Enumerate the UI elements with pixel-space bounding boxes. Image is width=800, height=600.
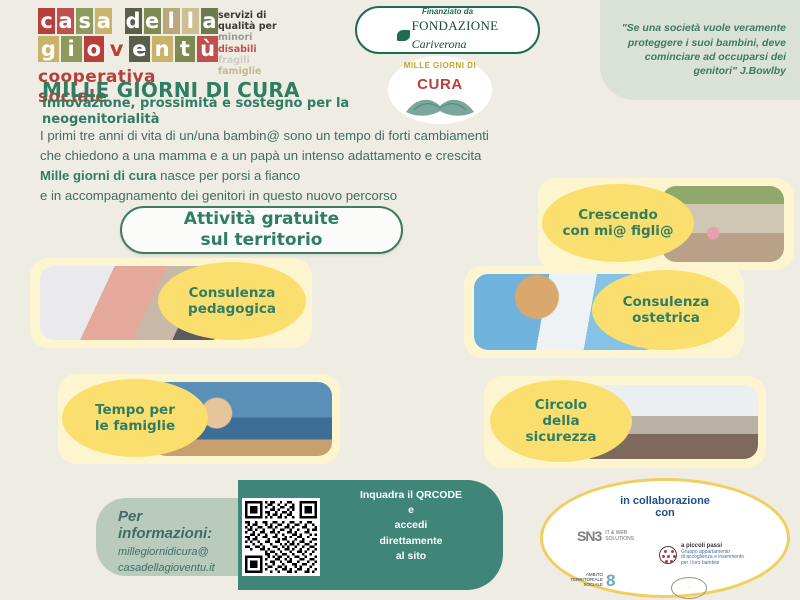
- qr-line-5: al sito: [326, 549, 496, 564]
- sn3-tagline-line-2: SOLUTIONS: [605, 536, 634, 542]
- logo-letter: d: [125, 8, 142, 34]
- qr-line-3: accedi: [326, 518, 496, 533]
- logo-letter: l: [163, 8, 180, 34]
- leaf-icon: [397, 30, 410, 41]
- logo-letter: g: [38, 36, 59, 62]
- logo-letter: a: [95, 8, 112, 34]
- services-line: qualità per: [218, 21, 304, 32]
- logo-letter: ù: [197, 36, 218, 62]
- service-card-tempo-per-le-famiglie[interactable]: Tempo perle famiglie: [58, 374, 340, 464]
- funder-name-line1: FONDAZIONE: [412, 18, 499, 33]
- funder-name-line2: Cariverona: [412, 37, 467, 51]
- card-label-bubble: Crescendocon mi@ figli@: [542, 184, 694, 262]
- poster-root: c a s a d e l l a g i o v e n t ù cooper…: [0, 0, 800, 600]
- services-quality-list: servizi di qualità per minori disabili f…: [218, 10, 304, 77]
- free-activities-badge: Attività gratuite sul territorio: [120, 206, 403, 254]
- card-label-line-2: pedagogica: [188, 301, 276, 317]
- quote-text: "Se una società vuole veramente protegge…: [610, 21, 786, 79]
- collaboration-title-line-1: in collaborazione: [543, 495, 787, 507]
- card-label-bubble: Consulenzapedagogica: [158, 262, 306, 340]
- logo-letters-line-1: c a s a d e l l a: [38, 8, 218, 34]
- project-logo-center-text: CURA: [388, 76, 492, 93]
- collaboration-partners-circle: in collaborazione con SN3 IT & WEB SOLUT…: [540, 478, 790, 598]
- piccoli-tagline-3: per i loro bambini: [681, 560, 719, 566]
- logo-letter: v: [106, 36, 127, 62]
- collaboration-title-line-2: con: [543, 507, 787, 519]
- logo-letter: a: [57, 8, 74, 34]
- logo-letter: t: [175, 36, 196, 62]
- service-card-crescendo[interactable]: Crescendocon mi@ figli@: [538, 178, 794, 270]
- card-label-line-1: Crescendo: [578, 207, 657, 223]
- services-line: disabili: [218, 44, 304, 55]
- services-line: servizi di: [218, 10, 304, 21]
- card-label-bubble: Circolodellasicurezza: [490, 380, 632, 462]
- badge-line-1: Attività gratuite: [184, 209, 339, 230]
- project-logo-arc-text: MILLE GIORNI DI: [388, 61, 492, 70]
- page-subtitle: Innovazione, prossimità e sostegno per l…: [42, 96, 372, 128]
- partner-logo-circle: ♡: [671, 577, 707, 599]
- logo-letter: l: [182, 8, 199, 34]
- logo-letter: s: [76, 8, 93, 34]
- intro-line-3-rest: nasce per porsi a fianco: [157, 168, 301, 183]
- services-line: fragili: [218, 55, 304, 66]
- card-label-line-2: della: [542, 413, 579, 429]
- intro-line-2: che chiedono a una mamma e a un papà un …: [40, 146, 665, 166]
- logo-letter: n: [152, 36, 173, 62]
- sn3-wordmark: SN3: [577, 529, 601, 544]
- qr-line-4: direttamente: [326, 534, 496, 549]
- funder-prefix: Finanziato da: [422, 7, 473, 16]
- qr-code-panel: Inquadra il QRCODE e accedi direttamente…: [238, 480, 503, 590]
- services-line: minori: [218, 32, 304, 43]
- partner-logo-sn3: SN3 IT & WEB SOLUTIONS: [577, 529, 634, 544]
- partner-logo-ambito-territoriale-sociale: AMBITO TERRITORIALE SOCIALE 8: [565, 573, 615, 588]
- ambito-name: AMBITO TERRITORIALE SOCIALE: [565, 573, 603, 588]
- intro-bold-brand: Mille giorni di cura: [40, 168, 157, 183]
- service-card-circolo-della-sicurezza[interactable]: Circolodellasicurezza: [484, 376, 766, 468]
- handshake-icon: [404, 92, 476, 118]
- card-label-line-3: sicurezza: [526, 429, 597, 445]
- qr-code-image[interactable]: [242, 498, 320, 576]
- qr-instruction-text: Inquadra il QRCODE e accedi direttamente…: [326, 488, 496, 564]
- card-label-bubble: Tempo perle famiglie: [62, 379, 208, 457]
- intro-line-4: e in accompagnamento dei genitori in que…: [40, 186, 400, 206]
- card-label-bubble: Consulenzaostetrica: [592, 270, 740, 350]
- qr-line-2: e: [326, 503, 496, 518]
- partner-circle-icon: ♡: [671, 577, 707, 599]
- card-label-line-2: le famiglie: [95, 418, 175, 434]
- intro-line-1: I primi tre anni di vita di un/una bambi…: [40, 126, 665, 146]
- logo-letter: c: [38, 8, 55, 34]
- logo-letter: e: [129, 36, 150, 62]
- fondazione-cariverona-logo: Finanziato da FONDAZIONE Cariverona: [355, 6, 540, 54]
- card-label-line-2: ostetrica: [632, 310, 700, 326]
- logo-letter: a: [201, 8, 218, 34]
- card-label-line-1: Consulenza: [623, 294, 710, 310]
- mille-giorni-di-cura-logo: MILLE GIORNI DI CURA: [388, 56, 492, 124]
- dots-cluster-icon: [659, 546, 677, 564]
- bowlby-quote-box: "Se una società vuole veramente protegge…: [600, 0, 800, 100]
- funder-name-group: FONDAZIONE Cariverona: [397, 17, 499, 53]
- card-label-line-1: Tempo per: [95, 402, 175, 418]
- card-label-line-2: con mi@ figli@: [563, 223, 674, 239]
- service-card-consulenza-pedagogica[interactable]: Consulenzapedagogica: [30, 258, 312, 348]
- badge-line-2: sul territorio: [201, 230, 323, 251]
- collaboration-title: in collaborazione con: [543, 495, 787, 519]
- service-card-consulenza-ostetrica[interactable]: Consulenzaostetrica: [464, 266, 744, 358]
- logo-gap: [114, 8, 122, 34]
- qr-line-1: Inquadra il QRCODE: [326, 488, 496, 503]
- logo-letter: e: [144, 8, 161, 34]
- card-label-line-1: Circolo: [535, 397, 587, 413]
- services-line: famiglie: [218, 66, 304, 77]
- logo-letter: i: [61, 36, 82, 62]
- logo-letter: o: [84, 36, 105, 62]
- logo-letters-line-2: g i o v e n t ù: [38, 36, 218, 62]
- partner-logo-a-piccoli-passi: a piccoli passi Gruppo appartamento di a…: [659, 543, 744, 566]
- card-label-line-1: Consulenza: [189, 285, 276, 301]
- figure-eight-icon: 8: [606, 573, 615, 588]
